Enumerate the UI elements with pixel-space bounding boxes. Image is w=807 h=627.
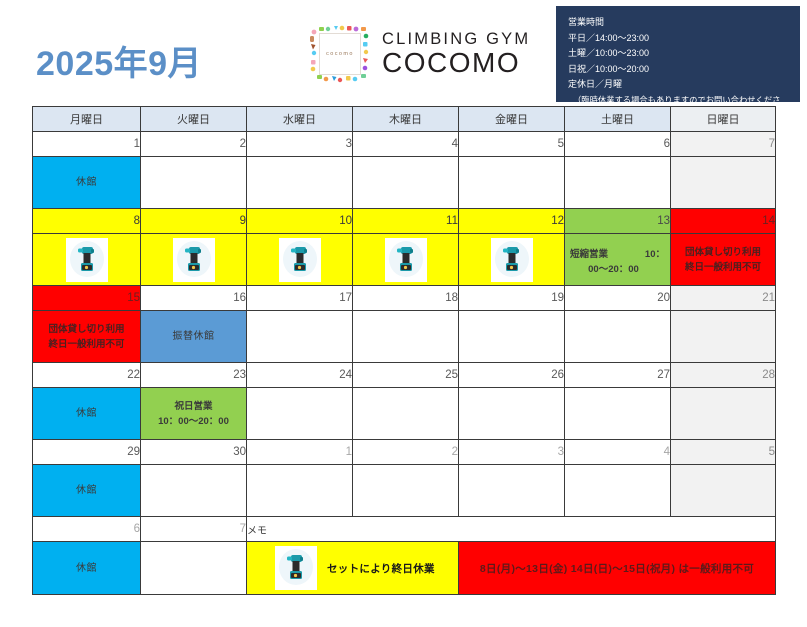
calendar-page: 2025年9月 xyxy=(0,0,807,627)
day-cell[interactable] xyxy=(247,157,353,209)
memo-label: メモ xyxy=(247,517,776,542)
legend-private-cell: 8日(月)〜13日(金) 14日(日)〜15日(祝月) は一般利用不可 xyxy=(459,542,776,595)
day-number[interactable]: 3 xyxy=(459,440,565,465)
weekday-header-sat: 土曜日 xyxy=(565,107,671,132)
legend-closed-swatch: 休館 xyxy=(33,542,141,595)
day-cell-closed[interactable]: 休館 xyxy=(33,157,141,209)
day-cell[interactable] xyxy=(459,465,565,517)
legend-setting-text: セットにより終日休業 xyxy=(327,561,435,576)
cell-label: 振替休館 xyxy=(173,331,215,342)
private-booking-line-1: 団体貸し切り利用 xyxy=(33,322,140,337)
day-cell[interactable] xyxy=(565,311,671,363)
week-1-cells: 休館 xyxy=(33,157,776,209)
day-number[interactable]: 26 xyxy=(459,363,565,388)
day-number[interactable]: 6 xyxy=(33,517,141,542)
day-cell[interactable] xyxy=(247,311,353,363)
drill-icon xyxy=(491,238,533,282)
day-cell[interactable] xyxy=(353,157,459,209)
weekday-header-row: 月曜日 火曜日 水曜日 木曜日 金曜日 土曜日 日曜日 xyxy=(33,107,776,132)
drill-icon xyxy=(385,238,427,282)
day-number[interactable]: 13 xyxy=(565,209,671,234)
day-number[interactable]: 11 xyxy=(353,209,459,234)
day-number[interactable]: 25 xyxy=(353,363,459,388)
day-number[interactable]: 2 xyxy=(353,440,459,465)
drill-icon xyxy=(66,238,108,282)
day-number[interactable]: 5 xyxy=(459,132,565,157)
private-booking-line-1: 団体貸し切り利用 xyxy=(671,245,775,260)
day-cell[interactable] xyxy=(353,388,459,440)
day-number[interactable]: 19 xyxy=(459,286,565,311)
legend-setting-cell: セットにより終日休業 xyxy=(247,542,459,595)
day-number[interactable]: 7 xyxy=(141,517,247,542)
day-number[interactable]: 24 xyxy=(247,363,353,388)
day-cell-closed[interactable]: 休館 xyxy=(33,465,141,517)
day-number[interactable]: 9 xyxy=(141,209,247,234)
day-cell-substitute-closed[interactable]: 振替休館 xyxy=(141,311,247,363)
day-cell[interactable] xyxy=(565,465,671,517)
week-2-numbers: 8 9 10 11 12 13 14 xyxy=(33,209,776,234)
weekday-header-sun: 日曜日 xyxy=(671,107,776,132)
day-cell-closed[interactable]: 休館 xyxy=(33,388,141,440)
day-cell-private-booking[interactable]: 団体貸し切り利用 終日一般利用不可 xyxy=(671,234,776,286)
drill-icon-wrap xyxy=(141,234,246,285)
day-cell[interactable] xyxy=(247,465,353,517)
day-number[interactable]: 5 xyxy=(671,440,776,465)
day-number[interactable]: 7 xyxy=(671,132,776,157)
day-cell[interactable] xyxy=(671,388,776,440)
logo-line-2: COCOMO xyxy=(382,49,530,77)
week-2-cells: 短縮営業 10： 00〜20：00 団体貸し切り利用 終日一般利用不可 xyxy=(33,234,776,286)
weekday-header-wed: 水曜日 xyxy=(247,107,353,132)
drill-icon-wrap xyxy=(459,234,564,285)
day-cell-setting[interactable] xyxy=(459,234,565,286)
day-number[interactable]: 16 xyxy=(141,286,247,311)
private-booking-text: 団体貸し切り利用 終日一般利用不可 xyxy=(33,322,140,352)
short-hours-text: 短縮営業 10： 00〜20：00 xyxy=(565,243,670,277)
day-number[interactable]: 20 xyxy=(565,286,671,311)
hours-sunday-holiday: 日祝／10:00〜20:00 xyxy=(568,62,790,78)
day-cell[interactable] xyxy=(459,157,565,209)
day-cell-setting[interactable] xyxy=(141,234,247,286)
day-number[interactable]: 4 xyxy=(565,440,671,465)
day-cell[interactable] xyxy=(247,388,353,440)
day-number[interactable]: 29 xyxy=(33,440,141,465)
private-booking-line-2: 終日一般利用不可 xyxy=(671,260,775,275)
short-hours-time-end: 00〜20：00 xyxy=(570,262,665,277)
legend-row: 休館 xyxy=(33,542,776,595)
calendar-body: 1 2 3 4 5 6 7 休館 8 xyxy=(33,132,776,595)
day-cell-setting[interactable] xyxy=(33,234,141,286)
day-number[interactable]: 8 xyxy=(33,209,141,234)
day-number[interactable]: 15 xyxy=(33,286,141,311)
legend-empty-cell xyxy=(141,542,247,595)
logo-wordmark: CLIMBING GYM COCOMO xyxy=(382,31,530,78)
drill-icon xyxy=(173,238,215,282)
cell-label: 休館 xyxy=(76,177,97,188)
private-booking-text: 団体貸し切り利用 終日一般利用不可 xyxy=(671,245,775,275)
legend-private-banner: 8日(月)〜13日(金) 14日(日)〜15日(祝月) は一般利用不可 xyxy=(459,542,775,594)
calendar-grid: 月曜日 火曜日 水曜日 木曜日 金曜日 土曜日 日曜日 1 2 3 4 5 6 … xyxy=(32,106,776,595)
week-5-cells: 休館 xyxy=(33,465,776,517)
day-number[interactable]: 22 xyxy=(33,363,141,388)
day-number[interactable]: 23 xyxy=(141,363,247,388)
drill-icon xyxy=(275,546,317,590)
short-hours-label: 短縮営業 xyxy=(570,247,608,262)
week-3-cells: 団体貸し切り利用 終日一般利用不可 振替休館 xyxy=(33,311,776,363)
week-1-numbers: 1 2 3 4 5 6 7 xyxy=(33,132,776,157)
day-number[interactable]: 12 xyxy=(459,209,565,234)
day-number[interactable]: 1 xyxy=(247,440,353,465)
day-number[interactable]: 4 xyxy=(353,132,459,157)
logo-mark-text: cocomo xyxy=(326,51,354,57)
day-number[interactable]: 14 xyxy=(671,209,776,234)
day-cell-holiday-hours[interactable]: 祝日営業 10：00〜20：00 xyxy=(141,388,247,440)
drill-icon-wrap xyxy=(353,234,458,285)
cocomo-logo-mark: cocomo xyxy=(308,22,372,86)
day-number[interactable]: 21 xyxy=(671,286,776,311)
day-number[interactable]: 3 xyxy=(247,132,353,157)
day-cell[interactable] xyxy=(459,311,565,363)
holiday-hours-label: 祝日営業 xyxy=(141,399,246,414)
gym-logo: cocomo CLIMBING GYM COCOMO xyxy=(308,22,530,86)
regular-closing-day: 定休日／月曜 xyxy=(568,77,790,93)
week-4-cells: 休館 祝日営業 10：00〜20：00 xyxy=(33,388,776,440)
day-cell[interactable] xyxy=(459,388,565,440)
hours-saturday: 土曜／10:00〜23:00 xyxy=(568,46,790,62)
holiday-hours-time: 10：00〜20：00 xyxy=(141,414,246,429)
day-number[interactable]: 27 xyxy=(565,363,671,388)
legend-setting-banner: セットにより終日休業 xyxy=(247,542,458,594)
logo-inner-box: cocomo xyxy=(319,33,361,75)
private-booking-line-2: 終日一般利用不可 xyxy=(33,337,140,352)
day-cell[interactable] xyxy=(353,465,459,517)
day-cell[interactable] xyxy=(353,311,459,363)
week-5-numbers: 29 30 1 2 3 4 5 xyxy=(33,440,776,465)
weekday-header-thu: 木曜日 xyxy=(353,107,459,132)
cell-label: 休館 xyxy=(76,485,97,496)
day-cell[interactable] xyxy=(671,311,776,363)
drill-icon-wrap xyxy=(247,234,352,285)
day-cell-setting[interactable] xyxy=(353,234,459,286)
page-header: 2025年9月 xyxy=(0,0,807,106)
weekday-header-mon: 月曜日 xyxy=(33,107,141,132)
week-4-numbers: 22 23 24 25 26 27 28 xyxy=(33,363,776,388)
weekday-header-fri: 金曜日 xyxy=(459,107,565,132)
week-3-numbers: 15 16 17 18 19 20 21 xyxy=(33,286,776,311)
day-cell[interactable] xyxy=(565,157,671,209)
day-cell-short-hours[interactable]: 短縮営業 10： 00〜20：00 xyxy=(565,234,671,286)
legend-private-text: 8日(月)〜13日(金) 14日(日)〜15日(祝月) は一般利用不可 xyxy=(480,561,754,576)
holiday-hours-text: 祝日営業 10：00〜20：00 xyxy=(141,399,246,429)
business-hours-box: 営業時間 平日／14:00〜23:00 土曜／10:00〜23:00 日祝／10… xyxy=(556,6,800,102)
logo-line-1: CLIMBING GYM xyxy=(382,31,530,48)
memo-number-row: 6 7 メモ xyxy=(33,517,776,542)
day-cell[interactable] xyxy=(141,465,247,517)
day-cell[interactable] xyxy=(565,388,671,440)
day-number[interactable]: 30 xyxy=(141,440,247,465)
day-cell-private-booking[interactable]: 団体貸し切り利用 終日一般利用不可 xyxy=(33,311,141,363)
drill-icon-wrap xyxy=(33,234,140,285)
short-hours-time-start: 10： xyxy=(645,247,665,262)
legend-closed-label: 休館 xyxy=(76,563,97,574)
day-cell[interactable] xyxy=(671,157,776,209)
day-number[interactable]: 6 xyxy=(565,132,671,157)
hours-weekday: 平日／14:00〜23:00 xyxy=(568,31,790,47)
hours-heading: 営業時間 xyxy=(568,15,790,31)
day-cell[interactable] xyxy=(141,157,247,209)
day-number[interactable]: 1 xyxy=(33,132,141,157)
day-number[interactable]: 2 xyxy=(141,132,247,157)
day-number[interactable]: 28 xyxy=(671,363,776,388)
day-number[interactable]: 18 xyxy=(353,286,459,311)
day-cell[interactable] xyxy=(671,465,776,517)
day-cell-setting[interactable] xyxy=(247,234,353,286)
weekday-header-tue: 火曜日 xyxy=(141,107,247,132)
drill-icon xyxy=(279,238,321,282)
day-number[interactable]: 17 xyxy=(247,286,353,311)
page-title: 2025年9月 xyxy=(36,36,202,85)
day-number[interactable]: 10 xyxy=(247,209,353,234)
cell-label: 休館 xyxy=(76,408,97,419)
